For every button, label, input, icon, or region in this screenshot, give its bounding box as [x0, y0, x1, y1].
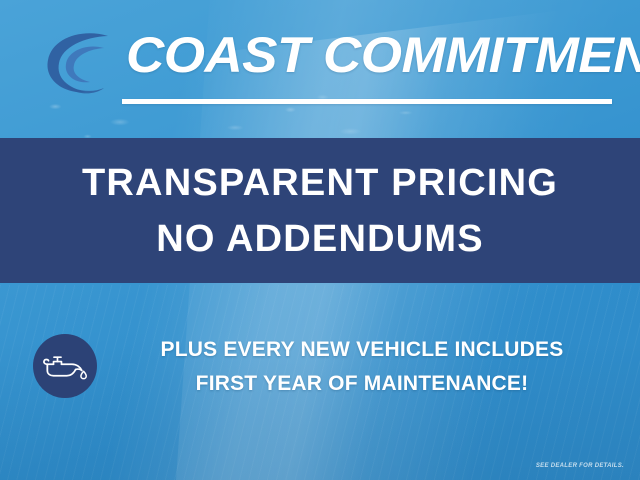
promo-line-2: FIRST YEAR OF MAINTENANCE!	[196, 373, 529, 394]
headline-line-2: NO ADDENDUMS	[156, 220, 484, 258]
promo-icon-container	[31, 330, 99, 402]
header-divider	[122, 99, 612, 104]
oil-can-icon	[33, 334, 97, 398]
page-title: COAST COMMITMENT	[126, 24, 640, 86]
promo-line-1: PLUS EVERY NEW VEHICLE INCLUDES	[161, 339, 564, 360]
coast-commitment-banner: COAST COMMITMENT TRANSPARENT PRICING NO …	[0, 0, 640, 480]
promo-row: PLUS EVERY NEW VEHICLE INCLUDES FIRST YE…	[0, 330, 640, 402]
disclaimer-text: SEE DEALER FOR DETAILS.	[536, 463, 624, 469]
banner-header: COAST COMMITMENT	[0, 0, 640, 138]
headline-band: TRANSPARENT PRICING NO ADDENDUMS	[0, 138, 640, 283]
headline-line-1: TRANSPARENT PRICING	[82, 164, 558, 202]
wave-swoosh-logo-icon	[38, 26, 124, 100]
promo-text-block: PLUS EVERY NEW VEHICLE INCLUDES FIRST YE…	[112, 330, 612, 402]
